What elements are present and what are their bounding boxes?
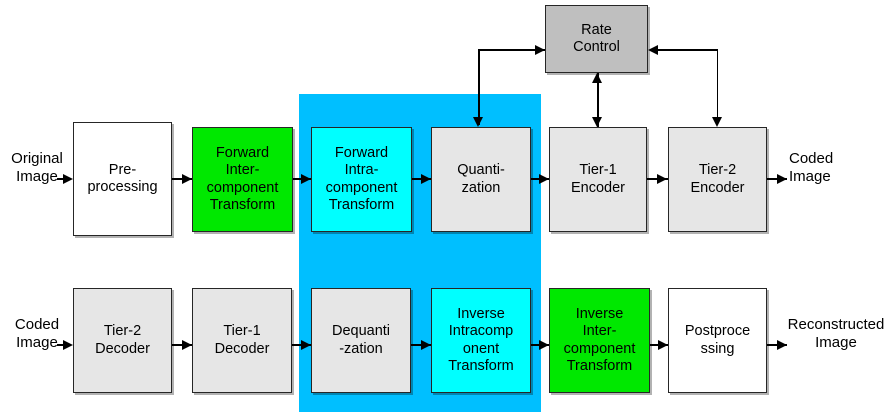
- arrowhead-into-rate-control-bottom: [592, 73, 602, 83]
- feedback-line-left-vertical: [478, 49, 480, 125]
- block-forward-intercomponent-transform-label: Forward Inter- component Transform: [205, 145, 281, 213]
- block-dequantization[interactable]: Dequanti -zation: [311, 288, 411, 393]
- block-pre-processing[interactable]: Pre- processing: [73, 122, 172, 236]
- block-forward-intracomponent-transform[interactable]: Forward Intra- component Transform: [311, 127, 412, 232]
- block-tier-2-encoder[interactable]: Tier-2 Encoder: [668, 127, 767, 232]
- block-quantization-label: Quanti- zation: [455, 162, 507, 196]
- reconstructed-image-output-label: Reconstructed Image: [776, 316, 896, 352]
- arrowhead-into-quantization: [421, 174, 431, 184]
- block-diagram-canvas: Original Image Pre- processing Forward I…: [0, 0, 896, 419]
- coded-image-output-label: Coded Image: [789, 150, 889, 186]
- block-inverse-intercomponent-transform-label: Inverse Inter- component Transform: [562, 306, 638, 374]
- arrowhead-into-tier2-decoder: [63, 340, 73, 350]
- block-inverse-intracomponent-transform[interactable]: Inverse Intracomp onent Transform: [431, 288, 531, 393]
- arrowhead-into-tier1-decoder: [182, 340, 192, 350]
- arrowhead-into-postprocessing: [658, 340, 668, 350]
- block-tier-2-decoder-label: Tier-2 Decoder: [93, 323, 152, 357]
- arrowhead-into-dequantization: [301, 340, 311, 350]
- arrowhead-into-inverse-intracomponent: [421, 340, 431, 350]
- block-dequantization-label: Dequanti -zation: [330, 323, 392, 357]
- block-quantization[interactable]: Quanti- zation: [431, 127, 531, 232]
- block-pre-processing-label: Pre- processing: [85, 162, 159, 196]
- arrowhead-into-tier1-encoder-top: [592, 117, 602, 127]
- arrowhead-into-tier2-encoder: [657, 174, 667, 184]
- arrowhead-into-tier1-encoder: [539, 174, 549, 184]
- block-tier-1-encoder-label: Tier-1 Encoder: [569, 162, 627, 196]
- block-postprocessing[interactable]: Postproce ssing: [668, 288, 767, 393]
- arrowhead-into-fwd-intracomponent: [301, 174, 311, 184]
- block-rate-control-label: Rate Control: [571, 22, 622, 56]
- block-tier-1-decoder[interactable]: Tier-1 Decoder: [192, 288, 292, 393]
- arrowhead-into-preprocessing: [63, 174, 73, 184]
- feedback-line-right-vertical: [717, 49, 719, 125]
- arrowhead-into-fwd-intercomponent: [182, 174, 192, 184]
- block-tier-1-encoder[interactable]: Tier-1 Encoder: [549, 127, 647, 232]
- block-inverse-intercomponent-transform[interactable]: Inverse Inter- component Transform: [549, 288, 650, 393]
- block-forward-intercomponent-transform[interactable]: Forward Inter- component Transform: [192, 127, 293, 232]
- coded-image-input-label: Coded Image: [2, 316, 72, 352]
- arrowhead-into-tier2-encoder-top: [712, 117, 722, 127]
- arrowhead-into-inverse-intercomponent: [539, 340, 549, 350]
- block-rate-control[interactable]: Rate Control: [545, 5, 648, 73]
- block-postprocessing-label: Postproce ssing: [683, 323, 752, 357]
- original-image-label: Original Image: [2, 150, 72, 186]
- block-forward-intracomponent-transform-label: Forward Intra- component Transform: [324, 145, 400, 213]
- feedback-line-right-horizontal-to-rate-control: [658, 49, 718, 51]
- arrowhead-into-rate-control-left: [535, 45, 545, 55]
- block-tier-1-decoder-label: Tier-1 Decoder: [213, 323, 272, 357]
- arrowhead-into-rate-control-right: [648, 45, 658, 55]
- arrowhead-to-coded-image-out: [777, 174, 787, 184]
- arrowhead-into-quantization-top: [473, 117, 483, 127]
- block-inverse-intracomponent-transform-label: Inverse Intracomp onent Transform: [446, 306, 516, 374]
- block-tier-2-encoder-label: Tier-2 Encoder: [688, 162, 746, 196]
- block-tier-2-decoder[interactable]: Tier-2 Decoder: [73, 288, 172, 393]
